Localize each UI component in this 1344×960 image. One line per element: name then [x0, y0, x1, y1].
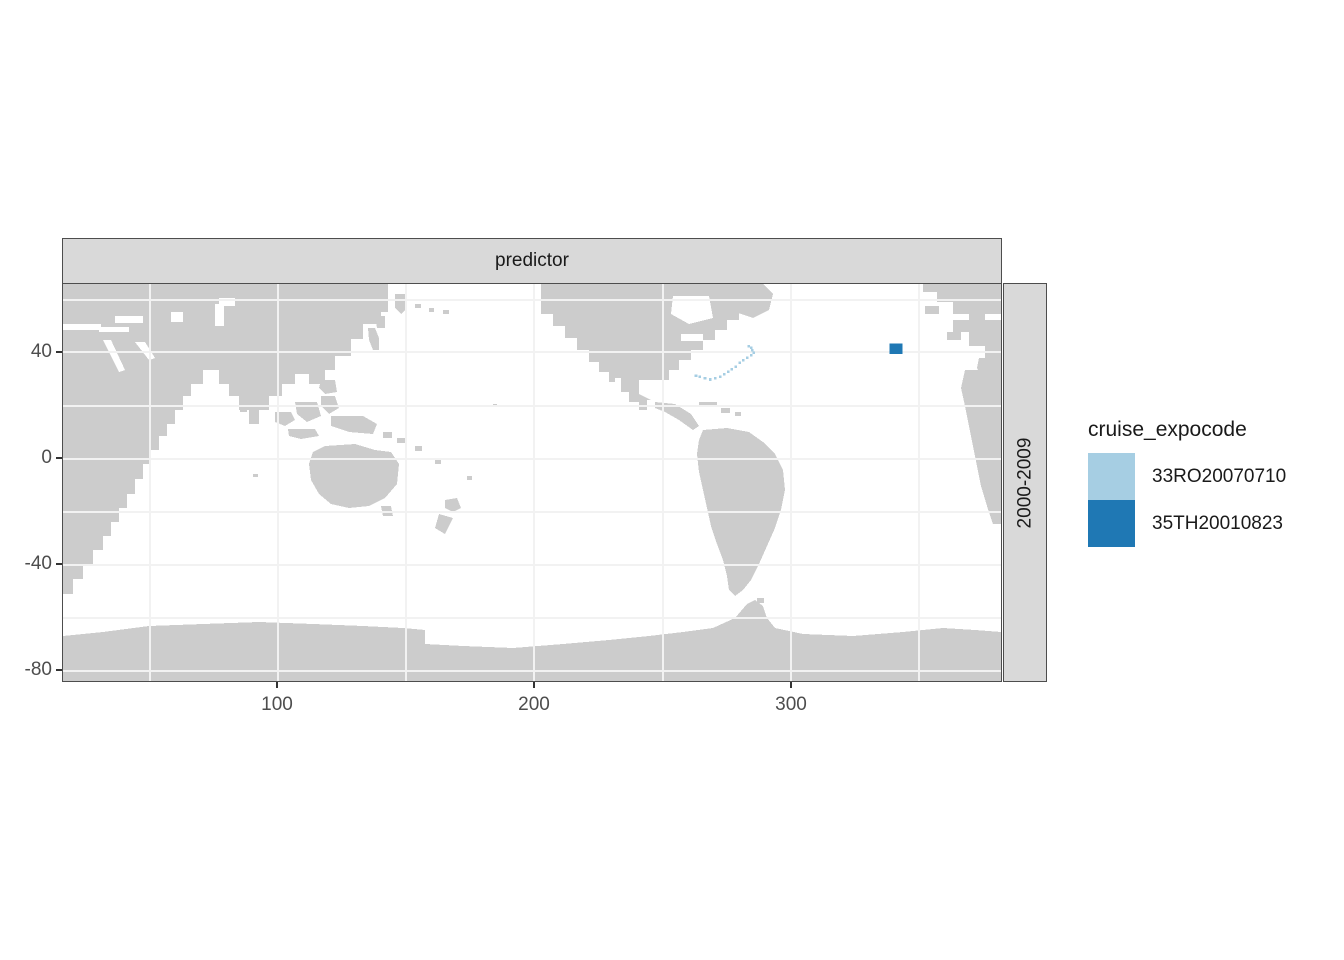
data-point: [889, 346, 892, 349]
data-point: [900, 346, 903, 349]
legend-items: 33RO20070710 35TH20010823: [1088, 453, 1338, 547]
land-solomon-b: [397, 438, 405, 443]
data-point: [699, 376, 702, 379]
legend: cruise_expocode 33RO20070710 35TH2001082…: [1088, 418, 1338, 547]
data-point: [719, 376, 722, 379]
land-vanuatu: [415, 446, 422, 451]
land-solomon-a: [383, 432, 392, 438]
data-series-35TH20010823: [889, 344, 902, 354]
data-point: [900, 351, 903, 354]
data-point: [695, 374, 698, 377]
land-british-isles: [947, 332, 961, 340]
data-point: [889, 349, 892, 352]
lake-mediterranean-e: [99, 327, 129, 332]
data-point: [747, 345, 750, 348]
x-tick-mark-200: [533, 682, 535, 688]
y-tick-mark-40: [56, 351, 62, 353]
data-point: [895, 351, 898, 354]
facet-strip-column-label: predictor: [495, 250, 569, 272]
data-point: [734, 365, 737, 368]
y-tick-mark-neg40: [56, 563, 62, 565]
world-map-svg: [63, 284, 1001, 681]
data-point: [892, 351, 895, 354]
data-point: [900, 349, 903, 352]
data-point: [892, 349, 895, 352]
data-point: [731, 368, 734, 371]
x-tick-label-100: 100: [246, 694, 308, 716]
gulf-of-california: [615, 378, 621, 394]
y-tick-label-neg80: -80: [8, 659, 52, 681]
data-point: [897, 344, 900, 347]
data-point: [727, 370, 730, 373]
legend-item-33RO20070710[interactable]: 33RO20070710: [1088, 453, 1338, 500]
lake-mediterranean-w: [63, 324, 101, 330]
legend-title: cruise_expocode: [1088, 418, 1338, 442]
lake-black-sea: [115, 316, 143, 323]
data-point: [723, 373, 726, 376]
lake-caspian: [171, 312, 183, 322]
legend-key-swatch-dark[interactable]: [1088, 500, 1135, 547]
y-tick-label-0: 0: [18, 447, 52, 469]
data-point: [704, 377, 707, 380]
data-point: [742, 359, 745, 362]
data-point: [900, 344, 903, 347]
data-point: [751, 349, 754, 352]
data-point: [750, 346, 753, 349]
data-point: [889, 351, 892, 354]
plot-canvas: predictor 2000-2009: [0, 0, 1344, 960]
legend-key-swatch-light[interactable]: [1088, 453, 1135, 500]
land-hispaniola: [721, 408, 730, 413]
x-tick-label-200: 200: [503, 694, 565, 716]
land-tonga: [467, 476, 472, 480]
data-point: [746, 356, 749, 359]
facet-strip-column: predictor: [62, 238, 1002, 284]
x-tick-label-300: 300: [760, 694, 822, 716]
data-point: [750, 354, 753, 357]
x-tick-mark-300: [790, 682, 792, 688]
data-point: [897, 346, 900, 349]
data-point: [895, 349, 898, 352]
facet-strip-row-label: 2000-2009: [1014, 437, 1036, 528]
land-aleutians-c: [443, 310, 449, 314]
y-tick-label-40: 40: [18, 341, 52, 363]
data-point: [889, 344, 892, 347]
data-point: [895, 344, 898, 347]
legend-item-label: 33RO20070710: [1152, 466, 1286, 488]
land-iceland: [925, 306, 939, 314]
land-aleutians-a: [415, 304, 421, 308]
data-point: [738, 362, 741, 365]
land-aleutians-b: [429, 308, 434, 312]
data-point: [897, 349, 900, 352]
legend-item-35TH20010823[interactable]: 35TH20010823: [1088, 500, 1338, 547]
data-point: [897, 351, 900, 354]
y-tick-mark-neg80: [56, 669, 62, 671]
lake-great-lakes: [681, 334, 703, 341]
facet-strip-row: 2000-2009: [1003, 283, 1047, 682]
data-point: [892, 346, 895, 349]
data-point: [892, 344, 895, 347]
y-tick-mark-0: [56, 457, 62, 459]
land-falklands: [757, 598, 764, 603]
lake-baikal: [215, 304, 224, 326]
legend-item-label: 35TH20010823: [1152, 513, 1283, 535]
land-fiji: [435, 460, 441, 464]
x-tick-mark-100: [276, 682, 278, 688]
y-tick-label-neg40: -40: [8, 553, 52, 575]
data-point: [709, 378, 712, 381]
map-panel: [62, 283, 1002, 682]
data-point: [714, 377, 717, 380]
data-point: [895, 346, 898, 349]
data-point: [752, 351, 755, 354]
land-islet-indian: [253, 474, 258, 477]
land-puerto-rico: [735, 412, 741, 416]
